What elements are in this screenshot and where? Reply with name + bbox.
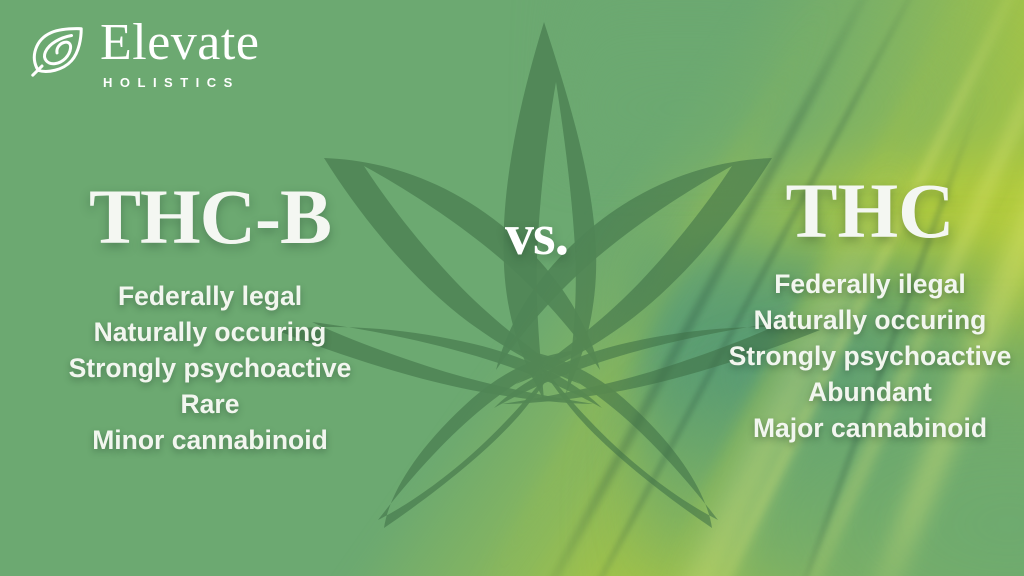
brand-name: Elevate	[100, 18, 259, 68]
brand-tagline: HOLISTICS	[103, 75, 259, 90]
right-trait-list: Federally ilegal Naturally occuring Stro…	[700, 266, 1024, 446]
list-item: Federally legal	[24, 278, 396, 314]
list-item: Naturally occuring	[700, 302, 1024, 338]
list-item: Minor cannabinoid	[24, 422, 396, 458]
list-item: Rare	[24, 386, 396, 422]
list-item: Naturally occuring	[24, 314, 396, 350]
list-item: Strongly psychoactive	[700, 338, 1024, 374]
comparison-column-left: THC-B Federally legal Naturally occuring…	[24, 178, 396, 458]
list-item: Strongly psychoactive	[24, 350, 396, 386]
infographic-canvas: Elevate HOLISTICS THC-B Federally legal …	[0, 0, 1024, 576]
left-title: THC-B	[24, 178, 396, 256]
list-item: Major cannabinoid	[700, 410, 1024, 446]
list-item: Abundant	[700, 374, 1024, 410]
right-title: THC	[700, 172, 1024, 250]
comparison-column-right: THC Federally ilegal Naturally occuring …	[700, 172, 1024, 446]
list-item: Federally ilegal	[700, 266, 1024, 302]
brand-logo[interactable]: Elevate HOLISTICS	[26, 18, 259, 90]
leaf-icon	[26, 20, 88, 82]
versus-separator: vs.	[505, 206, 568, 264]
left-trait-list: Federally legal Naturally occuring Stron…	[24, 278, 396, 458]
